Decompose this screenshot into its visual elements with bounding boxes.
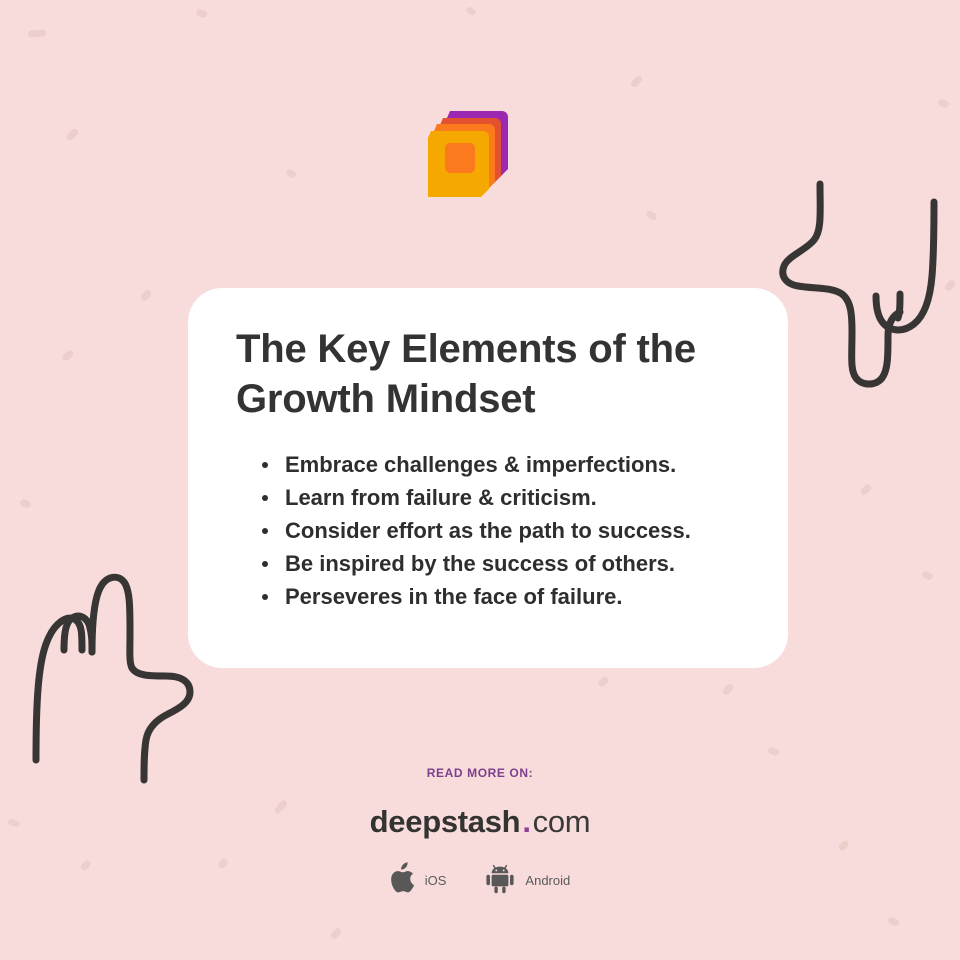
confetti-fleck [65,127,79,141]
confetti-fleck [285,168,297,179]
android-app-badge-label: Android [525,873,570,888]
brand-dot: . [520,804,532,839]
android-icon [484,862,516,899]
confetti-fleck [465,6,477,16]
list-item: Be inspired by the success of others. [262,547,740,580]
confetti-fleck [943,279,956,293]
key-elements-list: Embrace challenges & imperfections. Lear… [236,448,740,613]
content-card: The Key Elements of the Growth Mindset E… [188,288,788,668]
confetti-fleck [19,498,32,509]
read-more-label: READ MORE ON: [0,766,960,780]
confetti-fleck [139,289,152,303]
brand-tld: com [533,804,591,839]
ios-app-badge-label: iOS [425,873,447,888]
confetti-fleck [645,210,658,222]
confetti-fleck [887,916,900,927]
confetti-fleck [767,746,780,757]
confetti-fleck [329,927,342,940]
deepstash-logo-icon [428,103,518,197]
confetti-fleck [721,683,734,697]
confetti-fleck [597,675,610,688]
ios-app-badge[interactable]: iOS [390,862,447,899]
confetti-fleck [859,483,872,496]
confetti-fleck [195,8,208,18]
confetti-fleck [921,570,934,581]
hand-pointing-up-doodle-icon [24,562,214,786]
brand-wordmark[interactable]: deepstash.com [0,804,960,840]
page-title: The Key Elements of the Growth Mindset [236,324,740,424]
footer: READ MORE ON: deepstash.com iOS [0,766,960,899]
confetti-fleck [61,349,75,362]
app-badges: iOS [0,862,960,899]
confetti-fleck [28,29,46,37]
apple-icon [390,862,416,899]
list-item: Consider effort as the path to success. [262,514,740,547]
list-item: Learn from failure & criticism. [262,481,740,514]
confetti-fleck [937,98,950,108]
list-item: Perseveres in the face of failure. [262,580,740,613]
poster-canvas: The Key Elements of the Growth Mindset E… [0,0,960,960]
brand-name: deepstash [370,804,521,839]
list-item: Embrace challenges & imperfections. [262,448,740,481]
confetti-fleck [629,74,643,88]
android-app-badge[interactable]: Android [484,862,570,899]
